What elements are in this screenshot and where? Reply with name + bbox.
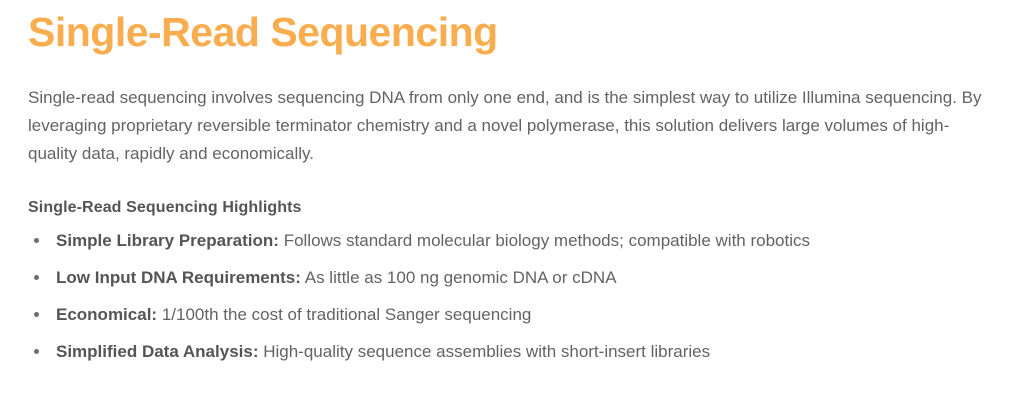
list-item-description: 1/100th the cost of traditional Sanger s… [162, 305, 532, 324]
highlights-heading: Single-Read Sequencing Highlights [28, 197, 302, 219]
page-title: Single-Read Sequencing [28, 7, 498, 57]
list-item: Simplified Data Analysis: High-quality s… [28, 341, 1008, 363]
list-item-label: Simple Library Preparation: [56, 231, 279, 250]
bullet-dot-icon [34, 238, 39, 243]
list-item: Simple Library Preparation: Follows stan… [28, 230, 1008, 252]
list-item-label: Low Input DNA Requirements: [56, 268, 301, 287]
list-item-label: Economical: [56, 305, 157, 324]
list-item: Economical: 1/100th the cost of traditio… [28, 304, 1008, 326]
list-item-label: Simplified Data Analysis: [56, 342, 258, 361]
bullet-dot-icon [34, 312, 39, 317]
bullet-dot-icon [34, 275, 39, 280]
list-item-description: Follows standard molecular biology metho… [284, 231, 810, 250]
list-item: Low Input DNA Requirements: As little as… [28, 267, 1008, 289]
article-page: Single-Read Sequencing Single-read seque… [0, 0, 1024, 400]
bullet-dot-icon [34, 349, 39, 354]
highlights-list: Simple Library Preparation: Follows stan… [28, 230, 1008, 363]
intro-paragraph: Single-read sequencing involves sequenci… [28, 84, 996, 168]
list-item-description: High-quality sequence assemblies with sh… [263, 342, 710, 361]
list-item-description: As little as 100 ng genomic DNA or cDNA [305, 268, 617, 287]
